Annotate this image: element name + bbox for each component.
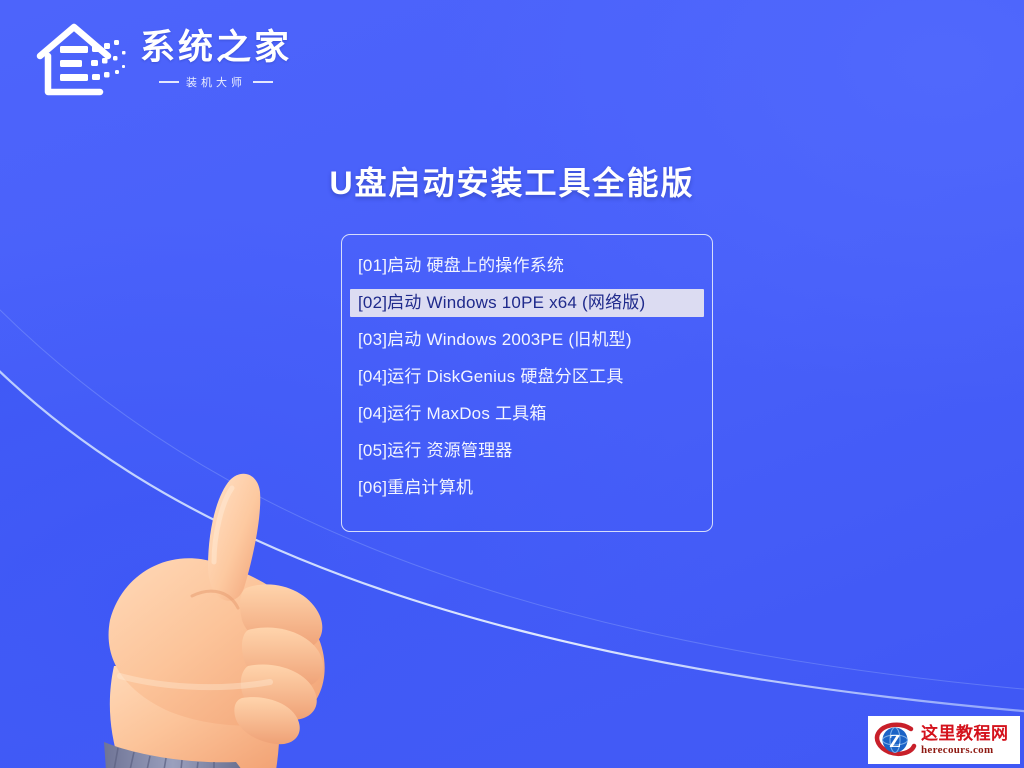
boot-menu-list: [01]启动 硬盘上的操作系统[02]启动 Windows 10PE x64 (…	[342, 252, 712, 502]
boot-menu-item[interactable]: [04]运行 DiskGenius 硬盘分区工具	[350, 363, 704, 391]
tagline-rule-right	[253, 81, 273, 83]
boot-menu-item[interactable]: [05]运行 资源管理器	[350, 437, 704, 465]
house-pixel-logo-icon	[34, 16, 130, 100]
watermark-site-url: herecours.com	[921, 745, 1009, 756]
boot-menu-item[interactable]: [04]运行 MaxDos 工具箱	[350, 400, 704, 428]
page-title: U盘启动安装工具全能版	[0, 158, 1024, 204]
watermark-site-name: 这里教程网	[921, 725, 1009, 742]
z-globe-icon: Z	[873, 720, 917, 760]
brand-tagline-wrap: 装机大师	[159, 74, 273, 90]
tagline-rule-left	[159, 81, 179, 83]
boot-menu-item[interactable]: [03]启动 Windows 2003PE (旧机型)	[350, 326, 704, 354]
boot-menu-item[interactable]: [01]启动 硬盘上的操作系统	[350, 252, 704, 280]
boot-menu-panel: [01]启动 硬盘上的操作系统[02]启动 Windows 10PE x64 (…	[341, 234, 713, 532]
boot-menu-screen: 系统之家 装机大师 U盘启动安装工具全能版 [01]启动 硬盘上的操作系统[02…	[0, 0, 1024, 768]
brand-name: 系统之家	[140, 30, 292, 67]
boot-menu-item[interactable]: [02]启动 Windows 10PE x64 (网络版)	[350, 289, 704, 317]
svg-text:Z: Z	[889, 731, 901, 751]
brand-tagline: 装机大师	[186, 74, 246, 90]
boot-menu-item[interactable]: [06]重启计算机	[350, 474, 704, 502]
watermark: Z 这里教程网 herecours.com	[868, 716, 1020, 764]
brand-logo: 系统之家 装机大师	[34, 16, 292, 100]
